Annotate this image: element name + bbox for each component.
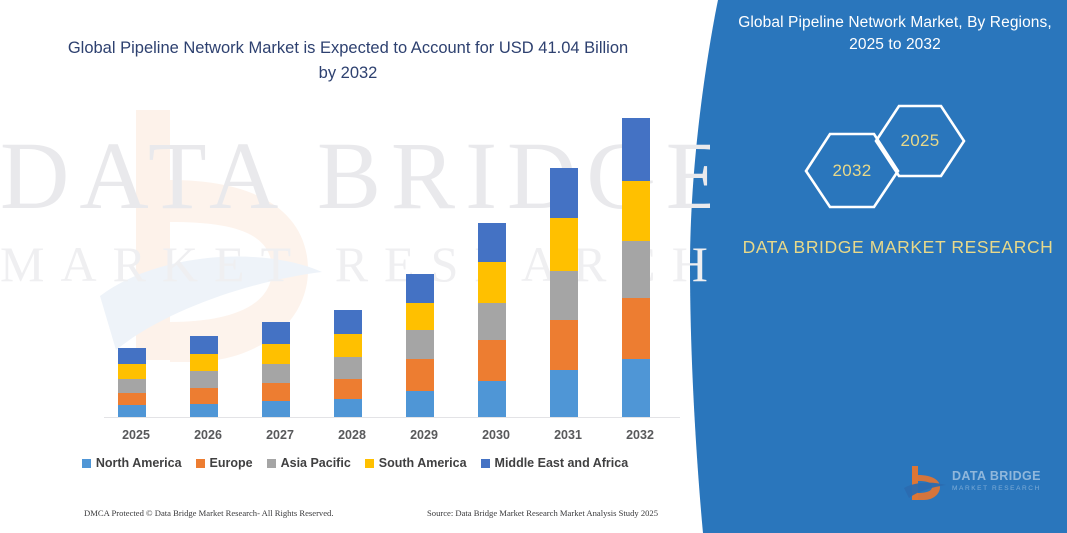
legend-label: South America [379, 456, 467, 470]
dbmr-logo-icon [902, 462, 950, 506]
legend-item-south-america[interactable]: South America [365, 456, 467, 470]
x-label-2026: 2026 [173, 428, 243, 442]
bar-segment-2029-3 [406, 303, 434, 331]
bar-segment-2028-0 [334, 399, 362, 417]
legend-label: Europe [210, 456, 253, 470]
bar-segment-2032-1 [622, 298, 650, 359]
hexagon-group: 2025 2032 [798, 104, 1028, 209]
bar-segment-2026-3 [190, 354, 218, 371]
bar-segment-2028-1 [334, 379, 362, 399]
right-panel-content: Global Pipeline Network Market, By Regio… [740, 0, 1067, 533]
hexagon-2032: 2032 [804, 132, 900, 209]
bar-segment-2032-2 [622, 241, 650, 298]
x-axis-line [104, 417, 680, 418]
bar-segment-2028-4 [334, 310, 362, 334]
legend-item-north-america[interactable]: North America [82, 456, 182, 470]
legend-label: North America [96, 456, 182, 470]
logo-line-2: MARKET RESEARCH [952, 485, 1041, 492]
bar-segment-2025-2 [118, 379, 146, 393]
bar-segment-2028-3 [334, 334, 362, 357]
bar-segment-2026-2 [190, 371, 218, 388]
bar-segment-2031-0 [550, 370, 578, 417]
legend-swatch-icon [365, 459, 374, 468]
bar-segment-2028-2 [334, 357, 362, 379]
bar-segment-2032-4 [622, 118, 650, 181]
legend-label: Middle East and Africa [495, 456, 629, 470]
bar-segment-2031-2 [550, 271, 578, 319]
bar-segment-2027-1 [262, 383, 290, 401]
bar-segment-2025-0 [118, 405, 146, 417]
dbmr-logo-text: DATA BRIDGE MARKET RESEARCH [952, 469, 1041, 492]
footer: DMCA Protected © Data Bridge Market Rese… [0, 508, 700, 524]
chart-title: Global Pipeline Network Market is Expect… [60, 36, 636, 86]
bars-container [100, 110, 680, 417]
legend-item-europe[interactable]: Europe [196, 456, 253, 470]
chart-legend: North AmericaEuropeAsia PacificSouth Ame… [0, 456, 710, 470]
chart-plot-area [100, 110, 680, 420]
bar-segment-2027-0 [262, 401, 290, 417]
bar-segment-2030-4 [478, 223, 506, 262]
legend-swatch-icon [267, 459, 276, 468]
bar-segment-2026-4 [190, 336, 218, 354]
bar-segment-2027-2 [262, 364, 290, 383]
bar-segment-2030-0 [478, 381, 506, 417]
bar-2032[interactable] [622, 118, 650, 417]
bar-segment-2029-2 [406, 330, 434, 359]
legend-item-asia-pacific[interactable]: Asia Pacific [267, 456, 351, 470]
x-label-2025: 2025 [101, 428, 171, 442]
bar-2031[interactable] [550, 168, 578, 417]
x-label-2027: 2027 [245, 428, 315, 442]
bar-segment-2029-0 [406, 391, 434, 417]
bar-segment-2030-3 [478, 262, 506, 303]
bar-segment-2027-3 [262, 344, 290, 364]
dbmr-logo: DATA BRIDGE MARKET RESEARCH [902, 462, 1054, 510]
bar-2025[interactable] [118, 348, 146, 417]
brand-name: DATA BRIDGE MARKET RESEARCH [738, 234, 1058, 260]
bar-segment-2031-4 [550, 168, 578, 219]
footer-copyright: DMCA Protected © Data Bridge Market Rese… [84, 508, 334, 518]
bar-segment-2026-0 [190, 404, 218, 417]
bar-segment-2025-4 [118, 348, 146, 364]
x-label-2031: 2031 [533, 428, 603, 442]
x-label-2032: 2032 [605, 428, 675, 442]
bar-segment-2029-4 [406, 274, 434, 303]
bar-segment-2032-0 [622, 359, 650, 417]
legend-item-middle-east-and-africa[interactable]: Middle East and Africa [481, 456, 629, 470]
bar-segment-2027-4 [262, 322, 290, 344]
bar-segment-2032-3 [622, 181, 650, 241]
footer-source: Source: Data Bridge Market Research Mark… [427, 508, 658, 518]
bar-2027[interactable] [262, 322, 290, 417]
legend-swatch-icon [481, 459, 490, 468]
bar-segment-2025-1 [118, 393, 146, 405]
x-label-2029: 2029 [389, 428, 459, 442]
x-axis-labels: 20252026202720282029203020312032 [104, 428, 680, 446]
infographic-canvas: Global Pipeline Network Market, By Regio… [0, 0, 1067, 533]
bar-2029[interactable] [406, 274, 434, 417]
bar-segment-2030-1 [478, 340, 506, 381]
bar-segment-2026-1 [190, 388, 218, 404]
bar-2030[interactable] [478, 223, 506, 417]
bar-segment-2029-1 [406, 359, 434, 390]
legend-swatch-icon [82, 459, 91, 468]
panel-title: Global Pipeline Network Market, By Regio… [735, 12, 1055, 56]
x-label-2030: 2030 [461, 428, 531, 442]
hexagon-2032-label: 2032 [804, 132, 900, 209]
logo-line-1: DATA BRIDGE [952, 469, 1041, 483]
legend-label: Asia Pacific [281, 456, 351, 470]
bar-segment-2031-3 [550, 218, 578, 271]
bar-segment-2030-2 [478, 303, 506, 340]
bar-2026[interactable] [190, 336, 218, 417]
bar-2028[interactable] [334, 310, 362, 417]
bar-segment-2025-3 [118, 364, 146, 378]
legend-swatch-icon [196, 459, 205, 468]
x-label-2028: 2028 [317, 428, 387, 442]
bar-segment-2031-1 [550, 320, 578, 371]
